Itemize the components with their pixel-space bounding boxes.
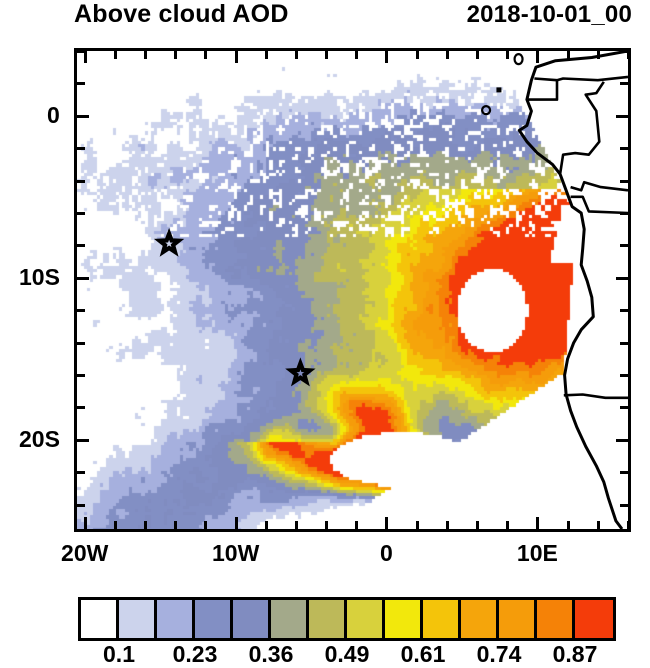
x-tick-label: 10E	[517, 540, 558, 567]
timestamp-label: 2018-10-01_00	[467, 1, 632, 29]
colorbar-tick-label: 0.61	[401, 641, 446, 668]
x-tick	[84, 517, 87, 529]
colorbar-cell-2	[157, 600, 195, 638]
x-tick	[597, 521, 600, 529]
y-tick	[620, 82, 628, 85]
x-tick	[476, 51, 479, 59]
x-tick	[235, 51, 238, 63]
colorbar	[78, 597, 616, 641]
x-tick	[385, 51, 388, 63]
y-tick	[77, 406, 85, 409]
y-tick	[620, 342, 628, 345]
colorbar-cell-3	[195, 600, 233, 638]
y-tick	[77, 244, 85, 247]
y-tick	[77, 82, 85, 85]
x-tick	[204, 521, 207, 529]
x-tick	[204, 51, 207, 59]
y-tick	[620, 309, 628, 312]
colorbar-cell-0	[81, 600, 119, 638]
x-tick	[446, 51, 449, 59]
country-border-north	[534, 77, 628, 80]
x-tick	[174, 51, 177, 59]
x-tick-label: 20W	[61, 540, 108, 567]
colorbar-tick-label: 0.1	[103, 641, 135, 668]
colorbar-tick-label: 0.49	[325, 641, 370, 668]
country-border-cameroon	[528, 80, 557, 99]
x-tick	[295, 521, 298, 529]
x-tick	[295, 51, 298, 59]
x-tick	[355, 51, 358, 59]
y-tick	[620, 374, 628, 377]
y-tick	[77, 374, 85, 377]
y-tick	[77, 212, 85, 215]
x-tick	[385, 517, 388, 529]
x-tick-label: 0	[380, 540, 393, 567]
colorbar-cell-7	[347, 600, 385, 638]
x-tick	[567, 521, 570, 529]
x-tick	[174, 521, 177, 529]
x-tick	[506, 521, 509, 529]
y-tick	[620, 504, 628, 507]
colorbar-cell-8	[385, 600, 423, 638]
colorbar-cell-4	[233, 600, 271, 638]
colorbar-tick-label: 0.36	[249, 641, 294, 668]
y-tick-label: 20S	[19, 426, 650, 453]
y-tick	[620, 50, 628, 53]
y-tick	[620, 244, 628, 247]
x-tick	[114, 51, 117, 59]
y-tick	[77, 50, 85, 53]
island-bioko	[515, 54, 523, 64]
x-tick	[567, 51, 570, 59]
x-tick	[355, 521, 358, 529]
x-tick	[265, 51, 268, 59]
x-tick	[416, 521, 419, 529]
x-tick	[416, 51, 419, 59]
colorbar-tick-label: 0.74	[477, 641, 522, 668]
y-tick	[77, 180, 85, 183]
figure-panel: Above cloud AOD 2018-10-01_00 20W10W010E…	[0, 0, 650, 667]
x-tick	[597, 51, 600, 59]
site-marker-north	[160, 234, 179, 252]
y-tick	[620, 147, 628, 150]
colorbar-tick-label: 0.87	[553, 641, 598, 668]
colorbar-cell-13	[575, 600, 613, 638]
x-tick	[446, 521, 449, 529]
island-principe	[496, 87, 501, 92]
x-tick	[536, 517, 539, 529]
colorbar-cell-11	[499, 600, 537, 638]
x-tick	[506, 51, 509, 59]
x-tick	[265, 521, 268, 529]
colorbar-cell-5	[271, 600, 309, 638]
y-tick	[77, 342, 85, 345]
colorbar-cell-9	[423, 600, 461, 638]
x-tick-label: 10W	[212, 540, 259, 567]
y-tick	[77, 471, 85, 474]
y-tick-label: 10S	[19, 264, 650, 291]
colorbar-cell-10	[461, 600, 499, 638]
site-marker-south	[291, 363, 310, 381]
x-tick	[627, 521, 630, 529]
y-tick	[77, 147, 85, 150]
y-tick-label: 0	[47, 102, 650, 129]
y-tick	[620, 471, 628, 474]
y-tick	[77, 309, 85, 312]
x-tick	[325, 521, 328, 529]
x-tick	[144, 51, 147, 59]
y-tick	[620, 180, 628, 183]
country-border-angola-namibia	[564, 395, 628, 398]
x-tick	[325, 51, 328, 59]
x-tick	[235, 517, 238, 529]
x-tick	[476, 521, 479, 529]
colorbar-cell-1	[119, 600, 157, 638]
x-tick	[114, 521, 117, 529]
y-tick	[77, 504, 85, 507]
y-tick	[620, 212, 628, 215]
colorbar-cell-12	[537, 600, 575, 638]
colorbar-cell-6	[309, 600, 347, 638]
x-tick	[144, 521, 147, 529]
x-tick	[536, 51, 539, 63]
y-tick	[620, 406, 628, 409]
country-border-congo	[571, 182, 628, 190]
page-title: Above cloud AOD	[74, 0, 289, 29]
colorbar-tick-label: 0.23	[173, 641, 218, 668]
